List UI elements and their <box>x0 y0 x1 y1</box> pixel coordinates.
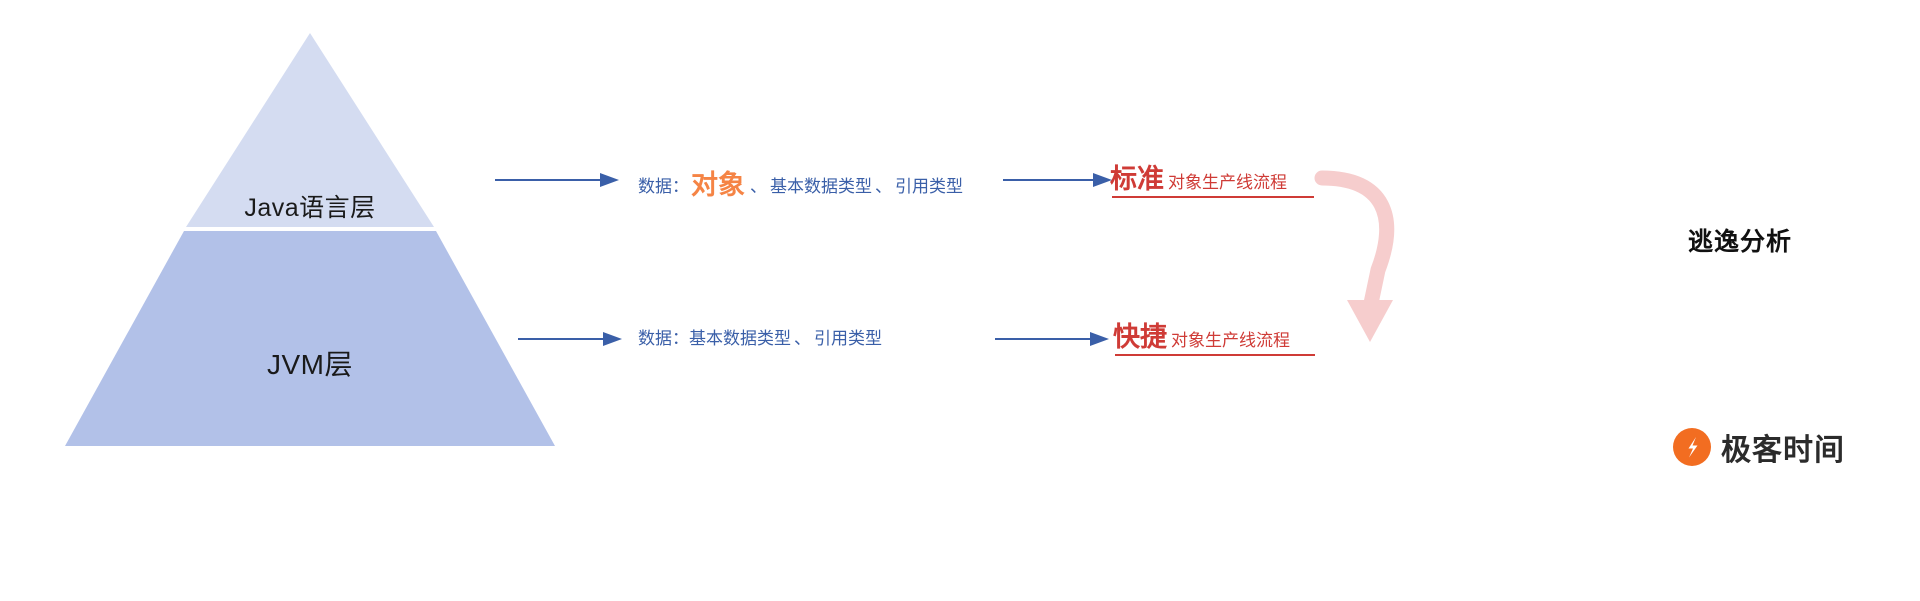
row-java-data-emphasis: 对象 <box>689 170 747 200</box>
row-java-result-text: 标准对象生产线流程 <box>1110 166 1287 193</box>
row-jvm-result-strong: 快捷 <box>1113 322 1171 352</box>
row-jvm-data-basic-type: 基本数据类型 <box>689 329 791 348</box>
row-jvm-sep-1: 、 <box>791 329 814 348</box>
pyramid-shapes <box>55 28 565 448</box>
row-java-data-prefix: 数据： <box>638 177 689 196</box>
row-java-result-underline <box>1112 196 1314 198</box>
row-java-sep-1: 、 <box>747 177 770 196</box>
escape-analysis-curved-arrow-icon <box>1290 160 1420 360</box>
row-java-data-text: 数据：对象、基本数据类型、引用类型 <box>638 172 963 199</box>
row-jvm-result-text: 快捷对象生产线流程 <box>1113 324 1290 351</box>
row-java-data-basic-type: 基本数据类型 <box>770 177 872 196</box>
row-jvm-data-text: 数据：基本数据类型、引用类型 <box>638 330 882 347</box>
diagram-canvas: Java语言层 JVM层 数据：对象、基本数据类型、引用类型 标准对象生产线流程… <box>0 0 1920 601</box>
row-java-result-strong: 标准 <box>1110 164 1168 194</box>
row-java-data-ref-type: 引用类型 <box>895 177 963 196</box>
row-java-sep-2: 、 <box>872 177 895 196</box>
arrow-java-right-icon <box>1003 166 1113 194</box>
arrow-jvm-left-icon <box>518 325 623 353</box>
arrow-java-left-icon <box>495 166 620 194</box>
row-java-result-rest: 对象生产线流程 <box>1168 173 1287 192</box>
arrow-jvm-right-icon <box>995 325 1110 353</box>
pyramid-graphic: Java语言层 JVM层 <box>55 28 565 448</box>
escape-analysis-label: 逃逸分析 <box>1688 222 1792 258</box>
geektime-logo-text: 极客时间 <box>1721 425 1845 469</box>
row-jvm-result-rest: 对象生产线流程 <box>1171 331 1290 350</box>
pyramid-label-java: Java语言层 <box>55 188 565 224</box>
geektime-logo: 极客时间 <box>1672 425 1845 469</box>
pyramid-label-jvm: JVM层 <box>55 343 565 383</box>
geektime-logo-icon <box>1672 427 1712 467</box>
row-jvm-data-prefix: 数据： <box>638 329 689 348</box>
row-jvm-result-underline <box>1115 354 1315 356</box>
pyramid-layer-jvm <box>65 231 555 446</box>
row-jvm-data-ref-type: 引用类型 <box>814 329 882 348</box>
